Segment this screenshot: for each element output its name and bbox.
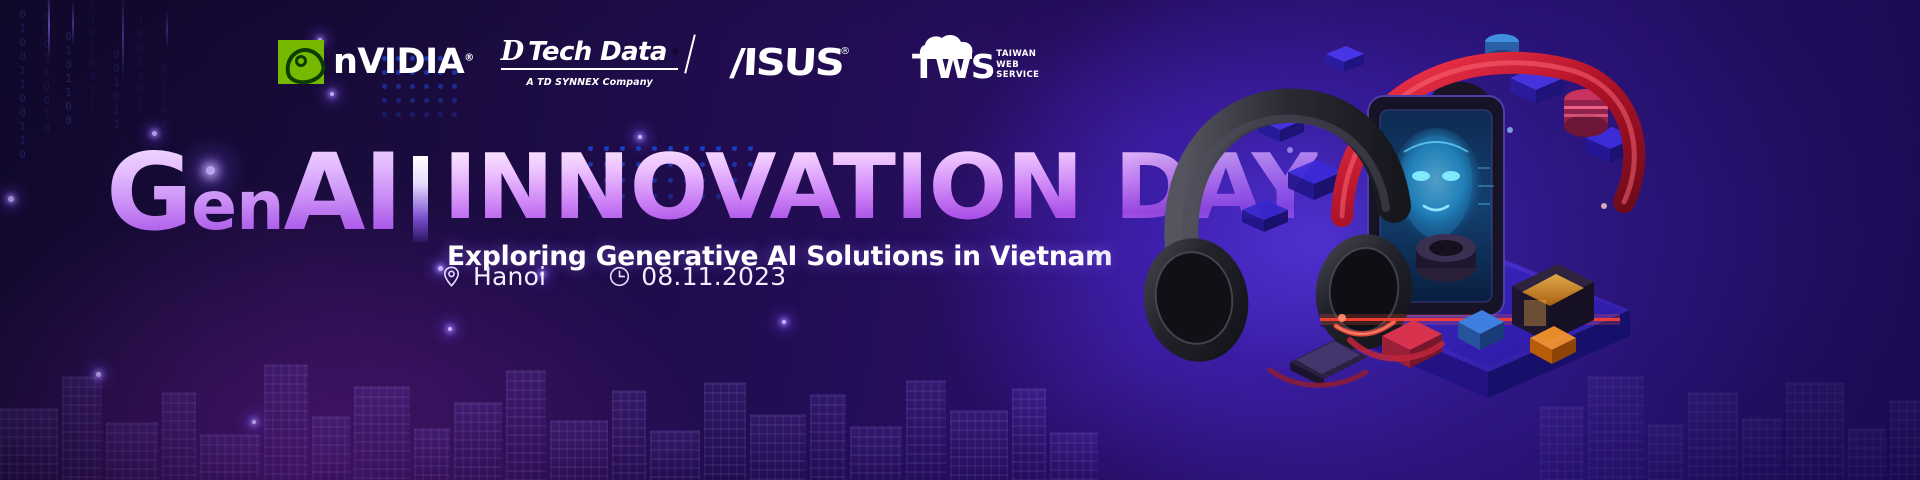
asus-logo: /ISUS ® (730, 44, 850, 81)
techdata-wordmark-text: Tech Data (528, 39, 667, 65)
binary-column: 1001101 (134, 14, 147, 112)
headphones (1134, 106, 1420, 370)
glow-dot (252, 420, 256, 424)
sponsor-logo-row: nVIDIA® D Tech Data ® A TD SYNNEX Compan… (278, 32, 1039, 88)
glow-dot (330, 92, 334, 96)
clock-icon (608, 265, 631, 288)
genai-g: G (106, 131, 191, 254)
glow-dot (8, 196, 14, 202)
light-streak (166, 10, 168, 50)
techdata-logo: D Tech Data ® A TD SYNNEX Company (501, 38, 679, 88)
page-title-genai: GenAI (106, 142, 401, 244)
nvidia-wordmark: nVIDIA® (333, 45, 474, 80)
map-pin-icon (440, 265, 463, 288)
techdata-slash-decoration (685, 34, 697, 73)
nvidia-wordmark-text: nVIDIA (333, 42, 464, 82)
illustration-graphic (990, 0, 1920, 480)
glow-dot (448, 327, 452, 331)
nvidia-eye-logo-icon (278, 40, 324, 84)
tws-wordmark: TWS (912, 50, 994, 83)
glow-dot (96, 372, 101, 377)
event-date-text: 08.11.2023 (641, 262, 786, 291)
asus-wordmark: /ISUS (729, 44, 844, 81)
binary-column: 11010011 (86, 0, 99, 112)
techdata-trademark: ® (672, 47, 679, 57)
binary-column: 01100 (158, 62, 171, 132)
genai-innovation-day-banner: 01001100110 1000110010 0101100 11010011 … (0, 0, 1920, 480)
genai-en: en (191, 167, 284, 246)
event-date: 08.11.2023 (608, 262, 786, 291)
binary-column: 0101100 (62, 30, 75, 128)
light-streak (48, 0, 50, 60)
light-streak (122, 0, 124, 80)
binary-column: 1000110010 (40, 0, 53, 136)
genai-ai: AI (284, 131, 401, 254)
event-location: Hanoi (440, 262, 546, 291)
techdata-monogram-icon: D (501, 38, 523, 65)
binary-column: 001011 (110, 48, 123, 132)
glow-dot (782, 320, 786, 324)
event-meta-row: Hanoi 08.11.2023 (440, 262, 786, 291)
headline-divider (413, 156, 428, 242)
binary-column: 01001100110 (16, 8, 29, 162)
event-location-text: Hanoi (473, 262, 546, 291)
ai-tech-illustration (990, 0, 1920, 480)
nvidia-logo: nVIDIA® (278, 40, 474, 84)
techdata-tagline: A TD SYNNEX Company (501, 77, 679, 88)
light-streak (72, 0, 74, 46)
nvidia-trademark: ® (464, 52, 474, 63)
techdata-wordmark: D Tech Data ® (501, 38, 679, 70)
